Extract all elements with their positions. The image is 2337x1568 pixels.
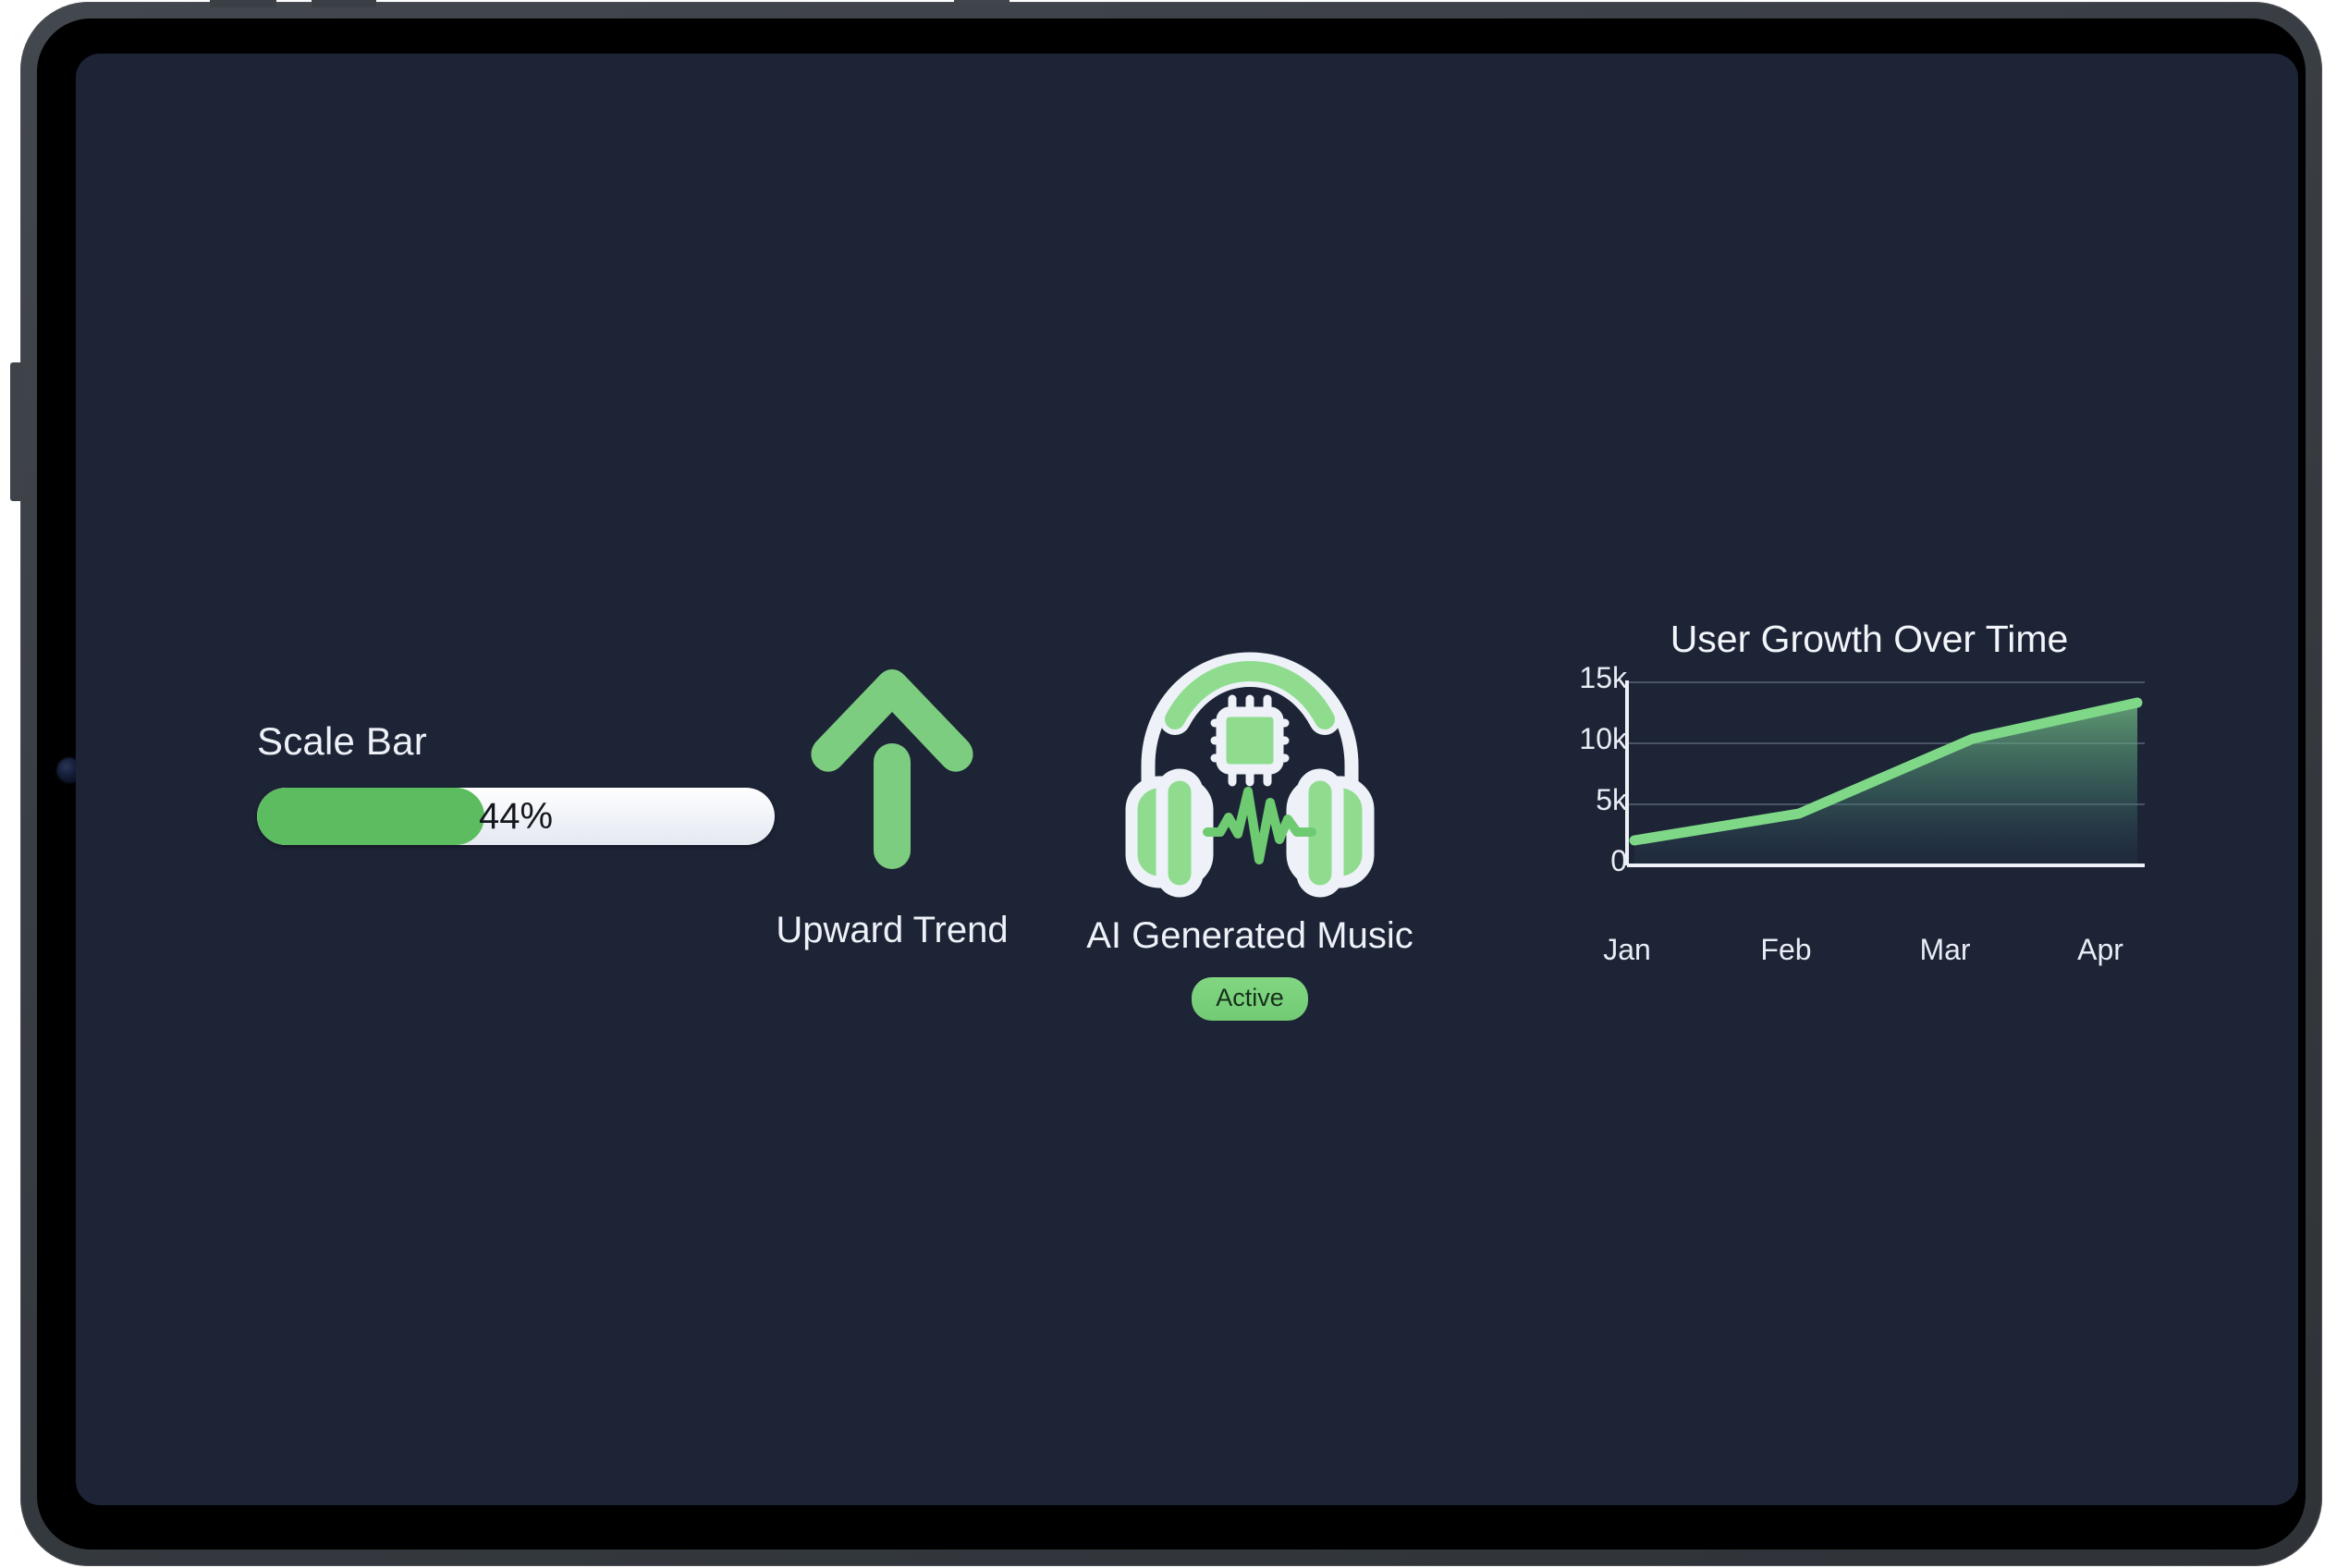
- volume-up-button[interactable]: [312, 0, 376, 7]
- side-rail-button[interactable]: [10, 362, 23, 501]
- chart-xtick-apr: Apr: [2045, 933, 2156, 967]
- chart-svg: [1546, 678, 2193, 890]
- chart-xtick-mar: Mar: [1890, 933, 2001, 967]
- cpu-chip-icon: [1215, 699, 1285, 782]
- upward-trend-label: Upward Trend: [758, 910, 1026, 951]
- scale-bar-track[interactable]: 44%: [257, 788, 775, 845]
- screen-bezel: Scale Bar 44% Upward Trend: [37, 18, 2306, 1550]
- chart-xtick-feb: Feb: [1731, 933, 1841, 967]
- ai-music-card: AI Generated Music Active: [1056, 627, 1444, 1021]
- scale-bar-card: Scale Bar 44%: [257, 719, 802, 845]
- power-button[interactable]: [210, 0, 276, 7]
- chart-ytick-10k: 10k: [1516, 722, 1627, 756]
- arrow-up-icon: [809, 664, 975, 876]
- chart-area-fill: [1634, 703, 2137, 865]
- scale-bar-label: Scale Bar: [257, 719, 802, 764]
- chart-plot-area: 15k 10k 5k 0 Jan Feb Mar Apr: [1546, 678, 2193, 918]
- volume-down-button[interactable]: [954, 0, 1009, 6]
- ai-music-label: AI Generated Music: [1056, 915, 1444, 957]
- ai-headphones-icon: [1111, 627, 1389, 904]
- chart-ytick-5k: 5k: [1516, 783, 1627, 817]
- chart-ytick-0: 0: [1516, 844, 1627, 878]
- chart-ytick-15k: 15k: [1516, 661, 1627, 695]
- status-badge[interactable]: Active: [1192, 977, 1308, 1021]
- user-growth-chart-card: User Growth Over Time 15k 10k 5k 0 Jan F…: [1546, 618, 2193, 918]
- dashboard-content: Scale Bar 44% Upward Trend: [76, 54, 2298, 1505]
- tablet-screen: Scale Bar 44% Upward Trend: [76, 54, 2298, 1505]
- scale-bar-fill: [257, 788, 484, 845]
- upward-trend-card: Upward Trend: [758, 664, 1026, 951]
- chart-xtick-jan: Jan: [1572, 933, 1682, 967]
- tablet-device-frame: Scale Bar 44% Upward Trend: [20, 2, 2322, 1566]
- scale-bar-value: 44%: [479, 788, 553, 845]
- chart-title: User Growth Over Time: [1546, 618, 2193, 661]
